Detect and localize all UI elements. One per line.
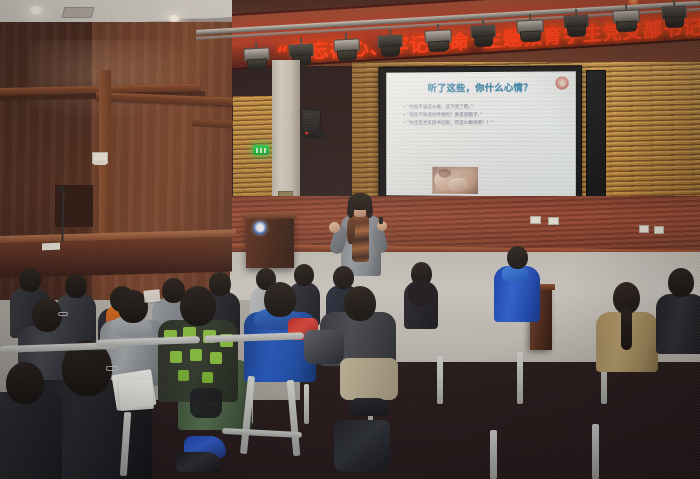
stage-light-icon bbox=[612, 3, 641, 35]
chair[interactable] bbox=[396, 396, 492, 479]
wall-outlet-icon[interactable] bbox=[654, 226, 664, 234]
stage-light-icon bbox=[377, 28, 404, 59]
eyeglasses-icon bbox=[58, 312, 68, 316]
lecture-hall-photo: “不忘初心、牢记使命”主题教育学生党支部书记第二轮学习 bbox=[0, 0, 700, 479]
presenter-hand bbox=[329, 222, 340, 233]
stage-light-icon bbox=[516, 13, 545, 45]
microphone-icon bbox=[58, 186, 65, 192]
attendee-blue-coat bbox=[494, 246, 540, 320]
university-emblem-icon bbox=[253, 221, 267, 235]
papers-on-table bbox=[42, 243, 60, 251]
eyeglasses-icon bbox=[106, 366, 118, 371]
chair-frame bbox=[592, 424, 599, 479]
downlight-icon bbox=[27, 6, 45, 15]
stage-light-icon bbox=[661, 0, 687, 30]
hvac-vent-icon bbox=[61, 7, 94, 18]
chair-frame bbox=[490, 430, 497, 479]
chair[interactable] bbox=[494, 390, 594, 479]
attendee-tan-coat-ponytail bbox=[596, 282, 658, 368]
stage-light-icon bbox=[243, 41, 271, 72]
stage-light-icon bbox=[333, 32, 361, 64]
downlight-icon bbox=[167, 15, 181, 22]
stage-light-icon bbox=[424, 23, 453, 55]
stage-light-icon bbox=[470, 18, 497, 49]
attendee-black-coat bbox=[656, 268, 700, 352]
shoe bbox=[350, 398, 390, 416]
handout-papers bbox=[143, 289, 160, 303]
slide-surface: 听了这些，你什么心情？ “你就不该这么做，这下完了吧。” “我就不知道你咋想的？… bbox=[386, 71, 576, 198]
chair-frame bbox=[304, 384, 309, 424]
wall-outlet-icon[interactable] bbox=[548, 217, 559, 225]
backpack bbox=[190, 388, 222, 418]
student-foreground-left bbox=[0, 362, 62, 479]
chair[interactable] bbox=[440, 312, 522, 386]
handout-papers bbox=[118, 379, 154, 411]
exit-sign-icon bbox=[253, 145, 269, 155]
wall-plate-icon bbox=[94, 160, 106, 165]
wall-light-reflection bbox=[30, 40, 200, 120]
chair[interactable] bbox=[596, 382, 696, 474]
wall-outlet-icon[interactable] bbox=[639, 225, 649, 233]
shoe bbox=[176, 452, 222, 472]
attendee-longhair-dark bbox=[404, 262, 438, 326]
bag-gray bbox=[304, 330, 344, 364]
wall-outlet-icon[interactable] bbox=[530, 216, 541, 224]
presentation-remote-icon bbox=[379, 217, 383, 224]
projection-screen-secondary bbox=[586, 70, 606, 198]
projection-screen: 听了这些，你什么心情？ “你就不该这么做，这下完了吧。” “我就不知道你咋想的？… bbox=[378, 65, 582, 202]
backpack bbox=[334, 420, 390, 472]
stage-light-icon bbox=[563, 8, 590, 39]
